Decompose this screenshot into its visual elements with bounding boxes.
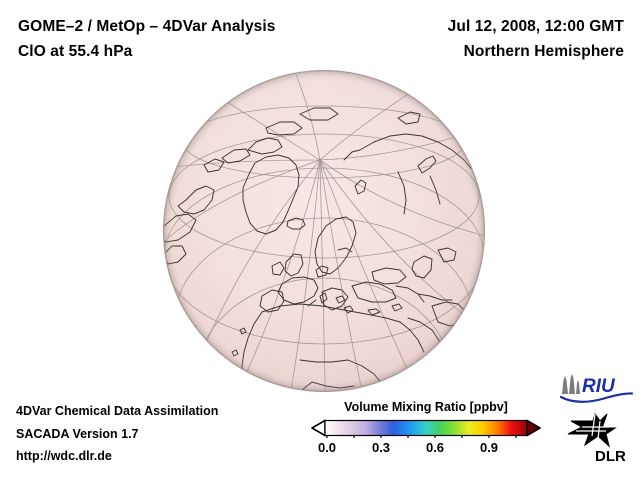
page-subtitle-species-level: ClO at 55.4 hPa	[18, 39, 378, 64]
dlr-logo-text: DLR	[595, 448, 626, 465]
colorbar-tick-label: 0.0	[318, 440, 336, 455]
colorbar-gradient-body	[325, 421, 527, 436]
riu-logo: RIU	[558, 372, 634, 404]
colorbar-graphic	[310, 418, 542, 438]
globe-limb-shading	[164, 71, 485, 392]
dlr-logo-svg: DLR	[562, 412, 634, 466]
globe-data-disc	[164, 71, 485, 392]
colorbar-gradient-svg	[310, 418, 542, 438]
riu-tower-icon	[562, 374, 580, 394]
coastlines	[158, 108, 486, 398]
timestamp-label: Jul 12, 2008, 12:00 GMT	[344, 14, 624, 39]
hemisphere-label: Northern Hemisphere	[344, 39, 624, 64]
header-right-block: Jul 12, 2008, 12:00 GMT Northern Hemisph…	[344, 14, 624, 64]
colorbar-left-arrow-cap	[312, 421, 325, 436]
credits-block: 4DVar Chemical Data Assimilation SACADA …	[16, 400, 296, 468]
credit-version-line: SACADA Version 1.7	[16, 423, 296, 446]
colorbar-tick-label: 0.9	[480, 440, 498, 455]
page-title: GOME–2 / MetOp – 4DVar Analysis	[18, 14, 378, 39]
colorbar-tick-label: 0.6	[426, 440, 444, 455]
riu-logo-text: RIU	[582, 376, 616, 397]
colorbar-title: Volume Mixing Ratio [ppbv]	[310, 400, 542, 414]
riu-logo-svg: RIU	[558, 372, 634, 404]
colorbar-right-arrow-cap	[527, 421, 540, 436]
credit-url-link[interactable]: http://wdc.dlr.de	[16, 445, 296, 468]
colorbar-tick-labels: 0.0 0.3 0.6 0.9	[310, 440, 542, 458]
globe-limb-outline	[164, 71, 485, 392]
dlr-emblem-icon	[568, 414, 615, 446]
header-left-block: GOME–2 / MetOp – 4DVar Analysis ClO at 5…	[18, 14, 378, 64]
colorbar-tick-label: 0.3	[372, 440, 390, 455]
colorbar-block: Volume Mixing Ratio [ppbv]	[310, 400, 542, 458]
credit-project-line: 4DVar Chemical Data Assimilation	[16, 400, 296, 423]
graticule-meridians	[166, 74, 486, 424]
dlr-logo: DLR	[562, 412, 634, 466]
north-pole-point	[319, 159, 322, 162]
